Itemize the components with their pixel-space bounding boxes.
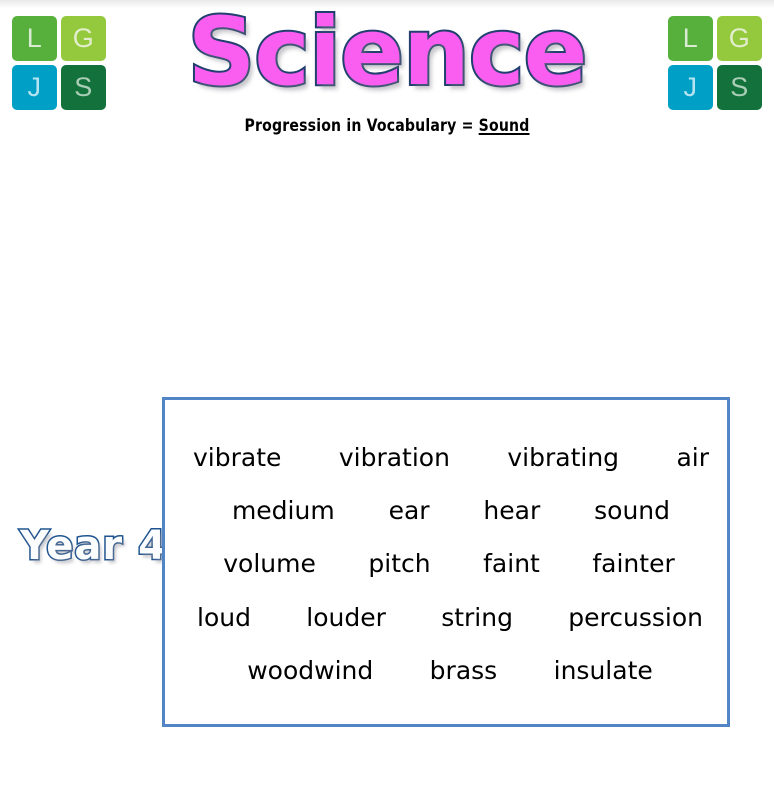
vocabulary-row: volume pitch faint fainter [179, 550, 713, 578]
page-title-container: Science [0, 4, 774, 103]
vocabulary-word: woodwind [247, 657, 373, 685]
vocabulary-word: pitch [368, 550, 430, 578]
vocabulary-word: brass [430, 657, 498, 685]
vocabulary-word: louder [306, 604, 386, 632]
vocabulary-word: insulate [554, 657, 653, 685]
vocabulary-word: air [676, 444, 709, 472]
vocabulary-word: sound [594, 497, 670, 525]
vocabulary-word: faint [483, 550, 540, 578]
page-title: Science [188, 4, 587, 103]
subtitle-topic: Sound [479, 116, 530, 136]
year-group-label: Year 4 [20, 526, 167, 566]
vocabulary-word: hear [483, 497, 540, 525]
vocabulary-word: vibration [339, 444, 450, 472]
subtitle-prefix: Progression in Vocabulary = [245, 116, 479, 136]
vocabulary-word: loud [197, 604, 251, 632]
vocabulary-row: woodwind brass insulate [179, 657, 713, 685]
subtitle: Progression in Vocabulary = Sound [31, 116, 743, 136]
vocabulary-box: vibrate vibration vibrating air medium e… [162, 397, 730, 727]
vocabulary-row: loud louder string percussion [179, 604, 713, 632]
vocabulary-word: percussion [568, 604, 703, 632]
vocabulary-word: ear [389, 497, 430, 525]
vocabulary-row: medium ear hear sound [179, 497, 713, 525]
vocabulary-word: volume [223, 550, 316, 578]
vocabulary-row: vibrate vibration vibrating air [179, 444, 713, 472]
vocabulary-word: fainter [592, 550, 674, 578]
vocabulary-word: string [441, 604, 513, 632]
vocabulary-word: medium [232, 497, 335, 525]
vocabulary-word: vibrate [193, 444, 281, 472]
vocabulary-word: vibrating [507, 444, 619, 472]
